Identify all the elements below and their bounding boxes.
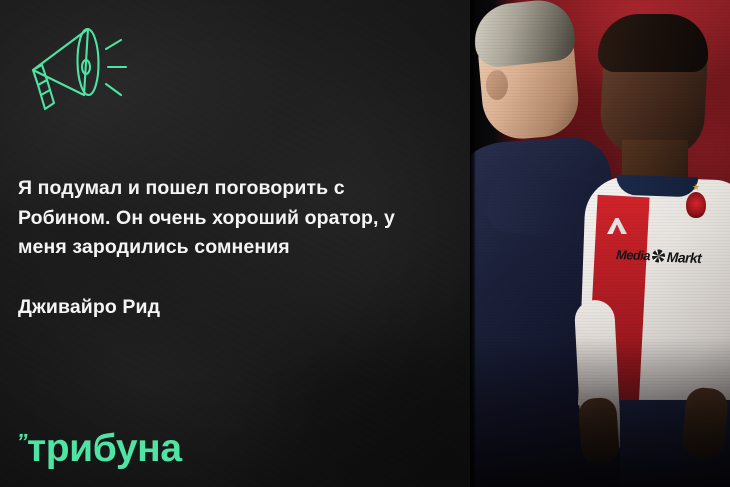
championship-star-icon: ★	[692, 183, 700, 191]
photo: ★ Media Markt	[470, 0, 730, 487]
logo-wordmark: трибуна	[27, 429, 182, 468]
player-hair	[598, 14, 708, 72]
mediamarkt-fan-icon	[652, 249, 665, 262]
photo-bottom-shadow	[470, 337, 730, 487]
sponsor-markt-text: Markt	[667, 248, 702, 265]
megaphone-icon	[20, 23, 136, 113]
quote-panel: Я подумал и пошел поговорить с Робином. …	[0, 0, 470, 487]
coach-ear	[486, 70, 508, 100]
sponsor-media-text: Media	[616, 247, 650, 263]
tribuna-logo[interactable]: ” трибуна	[17, 429, 182, 468]
quote-text: Я подумал и пошел поговорить с Робином. …	[18, 174, 418, 263]
quote-card: Я подумал и пошел поговорить с Робином. …	[0, 0, 730, 487]
quote-author: Дживайро Рид	[18, 294, 418, 321]
feyenoord-crest-icon	[686, 192, 706, 218]
